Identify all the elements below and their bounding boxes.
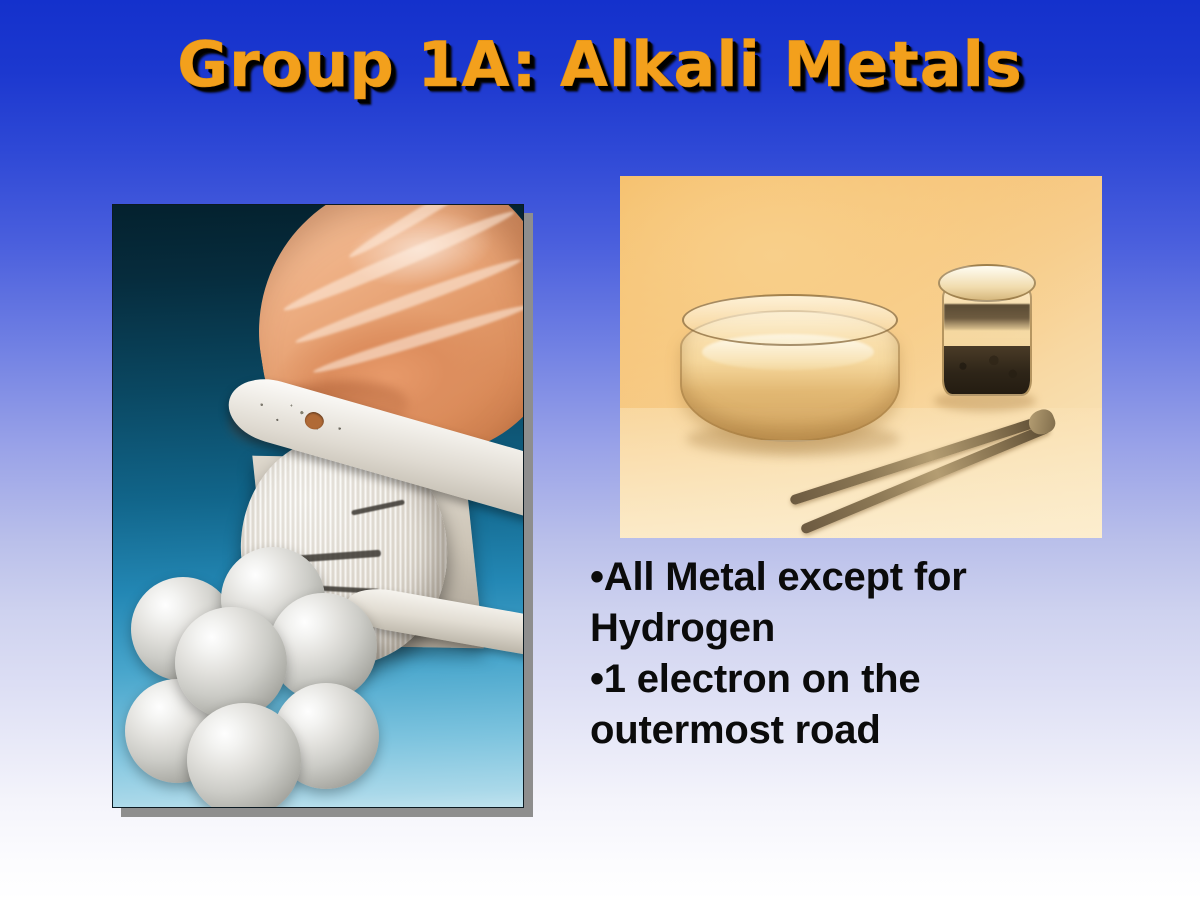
page-title: Group 1A: Alkali Metals (177, 34, 1023, 96)
storage-jar-body (942, 288, 1032, 396)
jar-metal-pieces (944, 346, 1030, 394)
storage-jar (938, 264, 1032, 406)
title-block: Group 1A: Alkali Metals (0, 34, 1200, 96)
list-item: •All Metal except for Hydrogen (590, 552, 1090, 654)
lab-glassware-photo (620, 176, 1102, 538)
bullet-list: •All Metal except for Hydrogen •1 electr… (590, 552, 1090, 756)
list-item: •1 electron on the outermost road (590, 654, 1090, 756)
atom-sphere (187, 703, 301, 808)
left-photo-container (112, 204, 524, 808)
petri-dish-rim (682, 294, 898, 346)
atom-sphere (175, 607, 287, 719)
presentation-slide: Group 1A: Alkali Metals (0, 0, 1200, 900)
glove-crease (311, 300, 524, 377)
storage-jar-lid (938, 264, 1036, 302)
jar-metal-upper (944, 304, 1030, 330)
glove-crease (293, 254, 523, 348)
cutting-sodium-photo (112, 204, 524, 808)
petri-dish (680, 294, 896, 444)
